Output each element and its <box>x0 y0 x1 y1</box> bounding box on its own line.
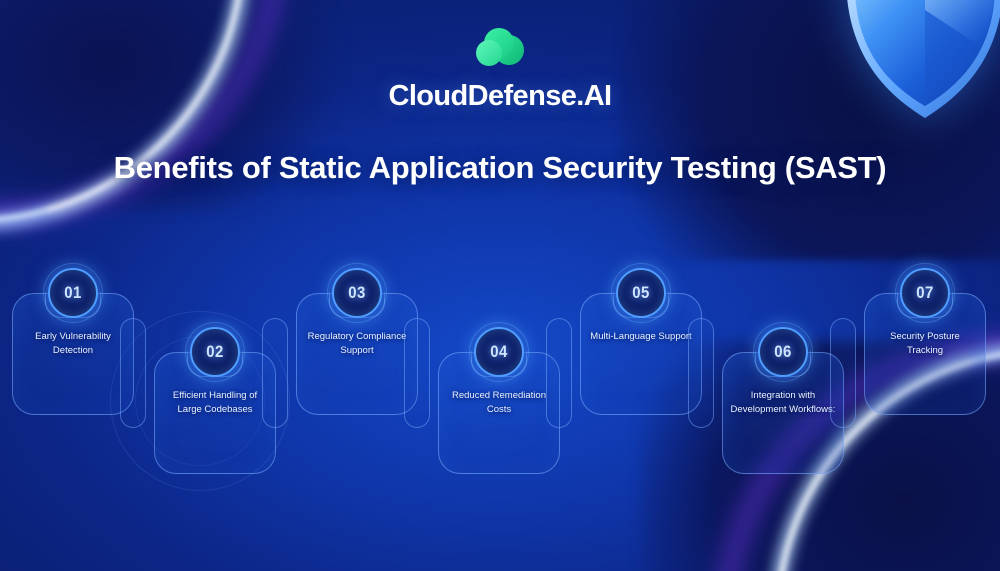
connector-6-7 <box>830 318 856 428</box>
benefit-badge-03: 03 <box>332 268 382 318</box>
benefit-card-05[interactable]: 05 Multi-Language Support <box>580 293 702 415</box>
benefit-label: Efficient Handling of Large Codebases <box>161 389 269 417</box>
benefit-badge-01: 01 <box>48 268 98 318</box>
benefit-badge-05: 05 <box>616 268 666 318</box>
benefit-number: 07 <box>916 283 934 303</box>
benefit-number: 03 <box>348 283 366 303</box>
benefit-label: Early Vulnerability Detection <box>19 330 127 358</box>
cloud-logo-icon <box>468 24 532 72</box>
connector-2-3 <box>262 318 288 428</box>
benefit-number: 04 <box>490 342 508 362</box>
brand-name: CloudDefense.AI <box>388 80 611 113</box>
benefit-label: Integration with Development Workflows: <box>729 389 837 417</box>
benefit-badge-04: 04 <box>474 327 524 377</box>
benefit-number: 05 <box>632 283 650 303</box>
benefit-label: Security Posture Tracking <box>871 330 979 358</box>
benefit-label: Reduced Remediation Costs <box>445 389 553 417</box>
benefit-number: 01 <box>64 283 82 303</box>
connector-5-6 <box>688 318 714 428</box>
benefit-badge-06: 06 <box>758 327 808 377</box>
benefit-badge-07: 07 <box>900 268 950 318</box>
benefit-card-06[interactable]: 06 Integration with Development Workflow… <box>722 352 844 474</box>
brand-header: CloudDefense.AI <box>0 24 1000 113</box>
benefit-label: Multi-Language Support <box>587 330 695 344</box>
connector-3-4 <box>404 318 430 428</box>
benefit-card-07[interactable]: 07 Security Posture Tracking <box>864 293 986 415</box>
benefit-card-02[interactable]: 02 Efficient Handling of Large Codebases <box>154 352 276 474</box>
benefit-card-01[interactable]: 01 Early Vulnerability Detection <box>12 293 134 415</box>
connector-4-5 <box>546 318 572 428</box>
connector-1-2 <box>120 318 146 428</box>
benefit-number: 06 <box>774 342 792 362</box>
benefit-card-03[interactable]: 03 Regulatory Compliance Support <box>296 293 418 415</box>
benefit-badge-02: 02 <box>190 327 240 377</box>
benefit-label: Regulatory Compliance Support <box>303 330 411 358</box>
benefit-number: 02 <box>206 342 224 362</box>
benefit-card-04[interactable]: 04 Reduced Remediation Costs <box>438 352 560 474</box>
page-title: Benefits of Static Application Security … <box>0 150 1000 186</box>
